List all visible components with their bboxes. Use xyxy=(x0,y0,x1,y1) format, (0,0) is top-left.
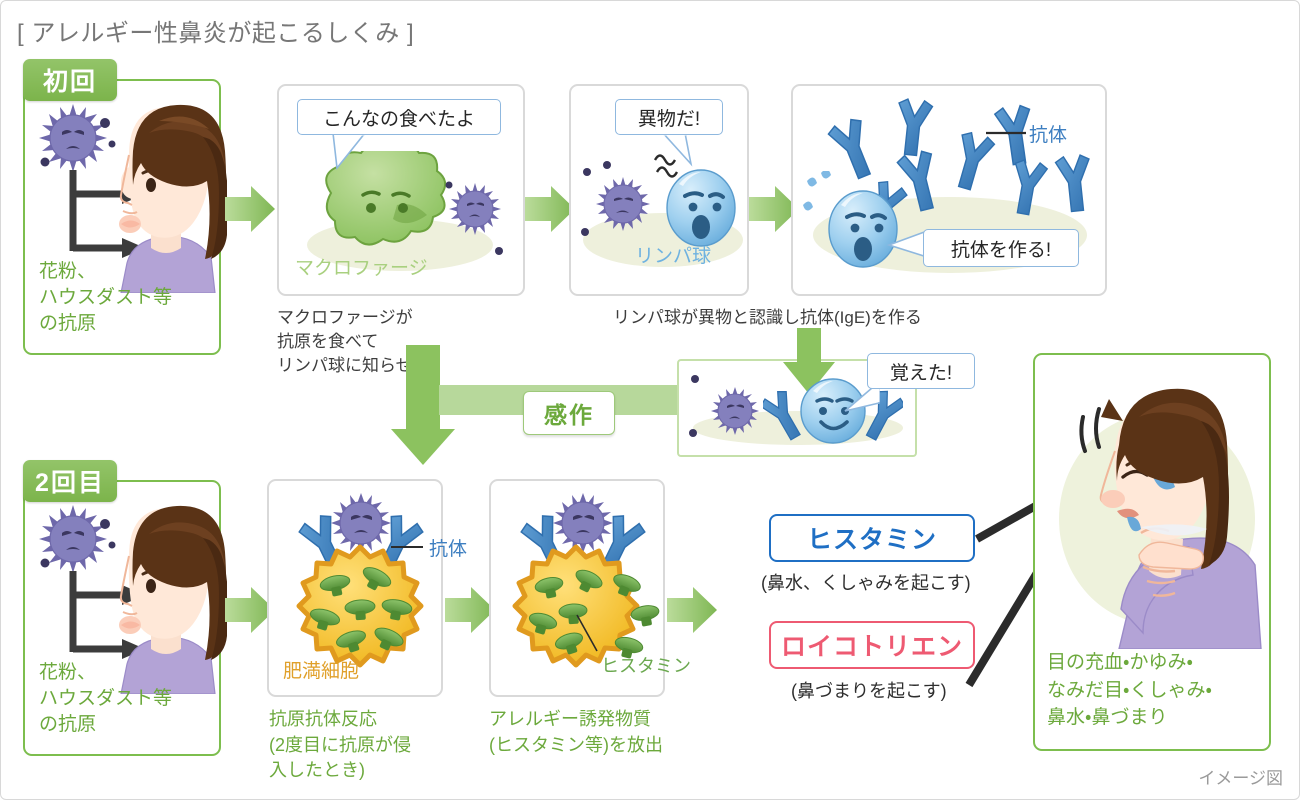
label-sensitization: 感作 xyxy=(523,391,615,435)
chem-effect-leukotriene: (鼻づまりを起こす) xyxy=(791,677,947,703)
caption-first-antigen: 花粉、 ハウスダスト等 の抗原 xyxy=(39,259,172,336)
bubble-make-antibody: 抗体を作る! xyxy=(923,229,1079,267)
label-antibody-top: 抗体 xyxy=(1029,120,1067,147)
caption-lymphocyte-ige: リンパ球が異物と認識し抗体(IgE)を作る xyxy=(613,306,922,330)
arrow-to-macrophage xyxy=(225,186,275,232)
antibody-leader-line xyxy=(986,127,1032,139)
image-note: イメージ図 xyxy=(1198,764,1283,789)
lymphocyte-icon-producing xyxy=(801,171,911,281)
badge-second-exposure: 2回目 xyxy=(23,460,117,502)
arrow-to-chemicals xyxy=(667,587,717,633)
allergen-icon-memory xyxy=(687,371,769,449)
bubble-macrophage: こんなの食べたよ xyxy=(297,99,501,135)
caption-symptoms: 目の充血・かゆみ・ なみだ目・くしゃみ・ 鼻水・鼻づまり xyxy=(1047,649,1212,732)
page-title: [ アレルギー性鼻炎が起こるしくみ ] xyxy=(17,13,414,48)
bubble-remembered: 覚えた! xyxy=(867,353,975,389)
arrow-to-release xyxy=(445,587,495,633)
caption-allergy-mediator-release: アレルギー誘発物質 (ヒスタミン等)を放出 xyxy=(489,707,663,758)
person-sneezing-icon xyxy=(1041,359,1267,649)
bubble-tail-lymphocyte xyxy=(661,132,697,168)
label-macrophage: マクロファージ xyxy=(295,253,428,280)
badge-first-exposure: 初回 xyxy=(23,59,117,101)
label-lymphocyte: リンパ球 xyxy=(635,241,711,268)
bubble-lymphocyte: 異物だ! xyxy=(615,99,723,135)
arrow-to-lymphocyte xyxy=(525,186,575,232)
label-mast-cell: 肥満細胞 xyxy=(283,656,359,683)
chem-box-histamine: ヒスタミン xyxy=(769,514,975,562)
bubble-tail-macrophage xyxy=(331,132,371,170)
diagram-frame: [ アレルギー性鼻炎が起こるしくみ ] 初回 xyxy=(0,0,1300,800)
caption-antigen-antibody-reaction: 抗原抗体反応 (2度目に抗原が侵 入したとき) xyxy=(269,707,411,784)
chem-effect-histamine: (鼻水、くしゃみを起こす) xyxy=(761,569,971,595)
mast-cell-icon xyxy=(285,541,435,671)
caption-second-antigen: 花粉、 ハウスダスト等 の抗原 xyxy=(39,660,172,737)
label-histamine-granule: ヒスタミン xyxy=(601,652,691,678)
chem-box-leukotriene: ロイコトリエン xyxy=(769,621,975,669)
allergen-icon-macrophage-panel xyxy=(439,173,517,268)
